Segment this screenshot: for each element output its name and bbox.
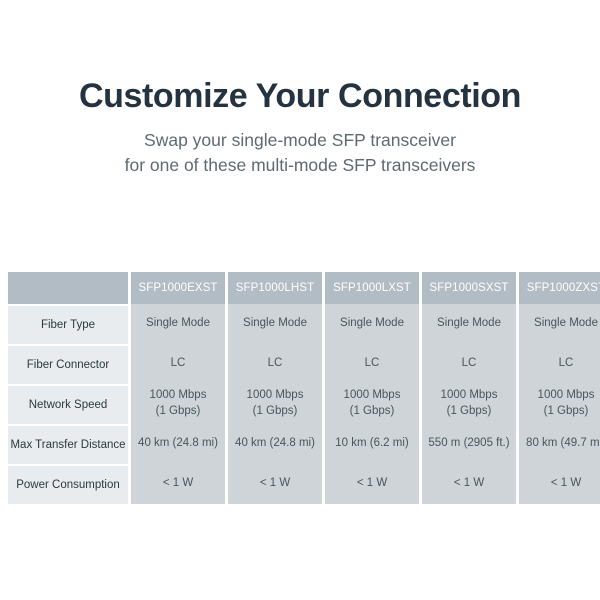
- subtitle-line-2: for one of these multi-mode SFP transcei…: [0, 153, 600, 178]
- table-cell: Single Mode: [325, 304, 422, 344]
- cell-value-line: < 1 W: [519, 476, 600, 492]
- cell-value-line: 1000 Mbps: [131, 388, 225, 404]
- cell-value-line: Single Mode: [325, 316, 419, 332]
- cell-value-line: 1000 Mbps: [422, 388, 516, 404]
- table-cell: 1000 Mbps(1 Gbps): [228, 384, 325, 424]
- cell-value-line: < 1 W: [422, 476, 516, 492]
- table-column-header: SFP1000EXST: [131, 272, 228, 304]
- cell-value-line: (1 Gbps): [325, 404, 419, 420]
- table-header: SFP1000EXSTSFP1000LHSTSFP1000LXSTSFP1000…: [8, 272, 600, 304]
- table-column-header: SFP1000ZXST: [519, 272, 600, 304]
- cell-value-line: (1 Gbps): [131, 404, 225, 420]
- table-column-header: SFP1000LXST: [325, 272, 422, 304]
- table-cell: Single Mode: [228, 304, 325, 344]
- table-cell: LC: [228, 344, 325, 384]
- cell-value-line: LC: [131, 356, 225, 372]
- cell-value-line: 550 m (2905 ft.): [422, 436, 516, 452]
- cell-value-line: (1 Gbps): [422, 404, 516, 420]
- table-cell: 10 km (6.2 mi): [325, 424, 422, 464]
- table-cell: < 1 W: [422, 464, 519, 504]
- cell-value-line: 1000 Mbps: [519, 388, 600, 404]
- table-cell: 1000 Mbps(1 Gbps): [131, 384, 228, 424]
- table-cell: < 1 W: [131, 464, 228, 504]
- row-label: Fiber Connector: [8, 344, 131, 384]
- table-column-header: SFP1000LHST: [228, 272, 325, 304]
- cell-value-line: < 1 W: [228, 476, 322, 492]
- table-cell: 1000 Mbps(1 Gbps): [422, 384, 519, 424]
- cell-value-line: 1000 Mbps: [325, 388, 419, 404]
- table-cell: Single Mode: [519, 304, 600, 344]
- cell-value-line: Single Mode: [131, 316, 225, 332]
- subtitle-line-1: Swap your single-mode SFP transceiver: [0, 128, 600, 153]
- table-cell: < 1 W: [228, 464, 325, 504]
- cell-value-line: 10 km (6.2 mi): [325, 436, 419, 452]
- table-cell: 40 km (24.8 mi): [228, 424, 325, 464]
- row-label: Network Speed: [8, 384, 131, 424]
- table-cell: < 1 W: [519, 464, 600, 504]
- table-row: Network Speed1000 Mbps(1 Gbps)1000 Mbps(…: [8, 384, 600, 424]
- cell-value-line: LC: [422, 356, 516, 372]
- cell-value-line: 1000 Mbps: [228, 388, 322, 404]
- table-cell: 1000 Mbps(1 Gbps): [519, 384, 600, 424]
- table-cell: 40 km (24.8 mi): [131, 424, 228, 464]
- cell-value-line: Single Mode: [519, 316, 600, 332]
- cell-value-line: 80 km (49.7 mi): [519, 436, 600, 452]
- table-cell: LC: [422, 344, 519, 384]
- table-corner-cell: [8, 272, 131, 304]
- cell-value-line: LC: [228, 356, 322, 372]
- row-label: Fiber Type: [8, 304, 131, 344]
- page-root: Customize Your Connection Swap your sing…: [0, 0, 600, 600]
- table-cell: Single Mode: [422, 304, 519, 344]
- table-cell: Single Mode: [131, 304, 228, 344]
- table-cell: 550 m (2905 ft.): [422, 424, 519, 464]
- heading-block: Customize Your Connection Swap your sing…: [0, 78, 600, 177]
- page-subtitle: Swap your single-mode SFP transceiver fo…: [0, 128, 600, 178]
- cell-value-line: LC: [325, 356, 419, 372]
- cell-value-line: Single Mode: [228, 316, 322, 332]
- table-body: Fiber TypeSingle ModeSingle ModeSingle M…: [8, 304, 600, 504]
- table-cell: LC: [519, 344, 600, 384]
- cell-value-line: 40 km (24.8 mi): [228, 436, 322, 452]
- table-row: Fiber ConnectorLCLCLCLCLC: [8, 344, 600, 384]
- table-cell: 1000 Mbps(1 Gbps): [325, 384, 422, 424]
- cell-value-line: 40 km (24.8 mi): [131, 436, 225, 452]
- cell-value-line: < 1 W: [131, 476, 225, 492]
- table-column-header: SFP1000SXST: [422, 272, 519, 304]
- specification-table: SFP1000EXSTSFP1000LHSTSFP1000LXSTSFP1000…: [8, 272, 600, 504]
- table-cell: 80 km (49.7 mi): [519, 424, 600, 464]
- table-row: Fiber TypeSingle ModeSingle ModeSingle M…: [8, 304, 600, 344]
- table-cell: < 1 W: [325, 464, 422, 504]
- page-title: Customize Your Connection: [0, 78, 600, 115]
- row-label: Power Consumption: [8, 464, 131, 504]
- cell-value-line: < 1 W: [325, 476, 419, 492]
- table-cell: LC: [325, 344, 422, 384]
- cell-value-line: (1 Gbps): [228, 404, 322, 420]
- cell-value-line: Single Mode: [422, 316, 516, 332]
- table-row: Max Transfer Distance40 km (24.8 mi)40 k…: [8, 424, 600, 464]
- cell-value-line: LC: [519, 356, 600, 372]
- row-label: Max Transfer Distance: [8, 424, 131, 464]
- table-row: Power Consumption< 1 W< 1 W< 1 W< 1 W< 1…: [8, 464, 600, 504]
- table-header-row: SFP1000EXSTSFP1000LHSTSFP1000LXSTSFP1000…: [8, 272, 600, 304]
- table-cell: LC: [131, 344, 228, 384]
- cell-value-line: (1 Gbps): [519, 404, 600, 420]
